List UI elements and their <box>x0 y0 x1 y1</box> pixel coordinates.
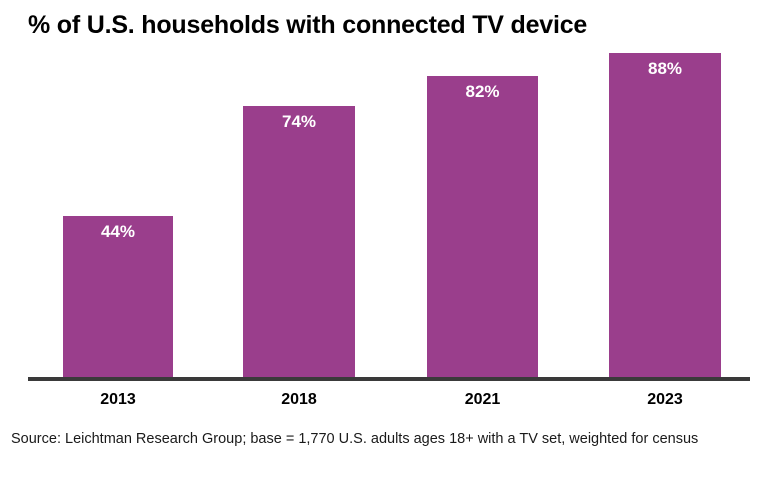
x-tick-label-2023: 2023 <box>609 389 721 411</box>
x-tick-label-2013: 2013 <box>63 389 173 411</box>
x-axis-line <box>28 377 750 381</box>
bar-group-2018: 74% <box>243 44 355 379</box>
bar-2013[interactable]: 44% <box>63 216 173 379</box>
bar-2018[interactable]: 74% <box>243 106 355 379</box>
x-tick-label-2018: 2018 <box>243 389 355 411</box>
bar-group-2013: 44% <box>63 44 173 379</box>
bar-2023[interactable]: 88% <box>609 53 721 379</box>
bar-group-2021: 82% <box>427 44 538 379</box>
bar-group-2023: 88% <box>609 44 721 379</box>
x-axis-tick-labels: 2013 2018 2021 2023 <box>0 389 768 415</box>
source-note: Source: Leichtman Research Group; base =… <box>11 428 741 450</box>
bar-value-2021: 82% <box>427 82 538 102</box>
bars-layer: 44% 74% 82% 88% <box>0 44 768 379</box>
x-tick-label-2021: 2021 <box>427 389 538 411</box>
bar-value-2018: 74% <box>243 112 355 132</box>
bar-chart: % of U.S. households with connected TV d… <box>0 0 768 481</box>
chart-title: % of U.S. households with connected TV d… <box>28 10 740 40</box>
bar-value-2013: 44% <box>63 222 173 242</box>
plot-area: 44% 74% 82% 88% <box>0 44 768 380</box>
bar-2021[interactable]: 82% <box>427 76 538 379</box>
bar-value-2023: 88% <box>609 59 721 79</box>
